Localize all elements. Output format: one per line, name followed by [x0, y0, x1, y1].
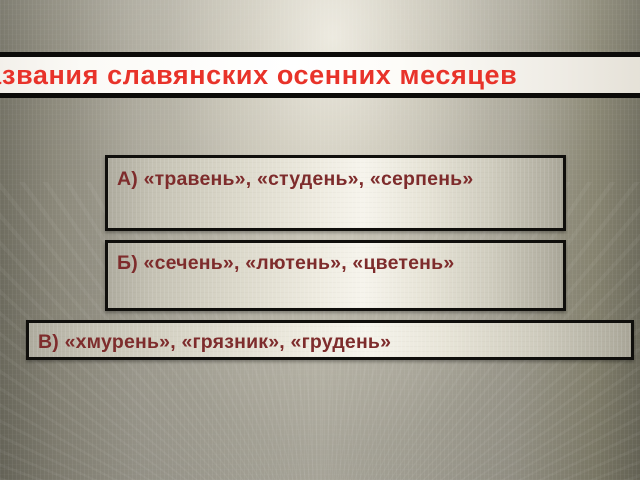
answer-option-b-label: Б) «сечень», «лютень», «цветень»	[108, 243, 563, 276]
answer-option-a[interactable]: А) «травень», «студень», «серпень»	[105, 155, 566, 231]
answer-option-b[interactable]: Б) «сечень», «лютень», «цветень»	[105, 240, 566, 311]
presentation-slide: Названия славянских осенних месяцев А) «…	[0, 0, 640, 480]
slide-title: Названия славянских осенних месяцев	[0, 60, 517, 91]
answer-option-c[interactable]: В) «хмурень», «грязник», «грудень»	[26, 320, 634, 360]
slide-title-banner: Названия славянских осенних месяцев	[0, 52, 640, 98]
answer-option-c-label: В) «хмурень», «грязник», «грудень»	[29, 323, 631, 355]
answer-option-a-label: А) «травень», «студень», «серпень»	[108, 158, 563, 192]
